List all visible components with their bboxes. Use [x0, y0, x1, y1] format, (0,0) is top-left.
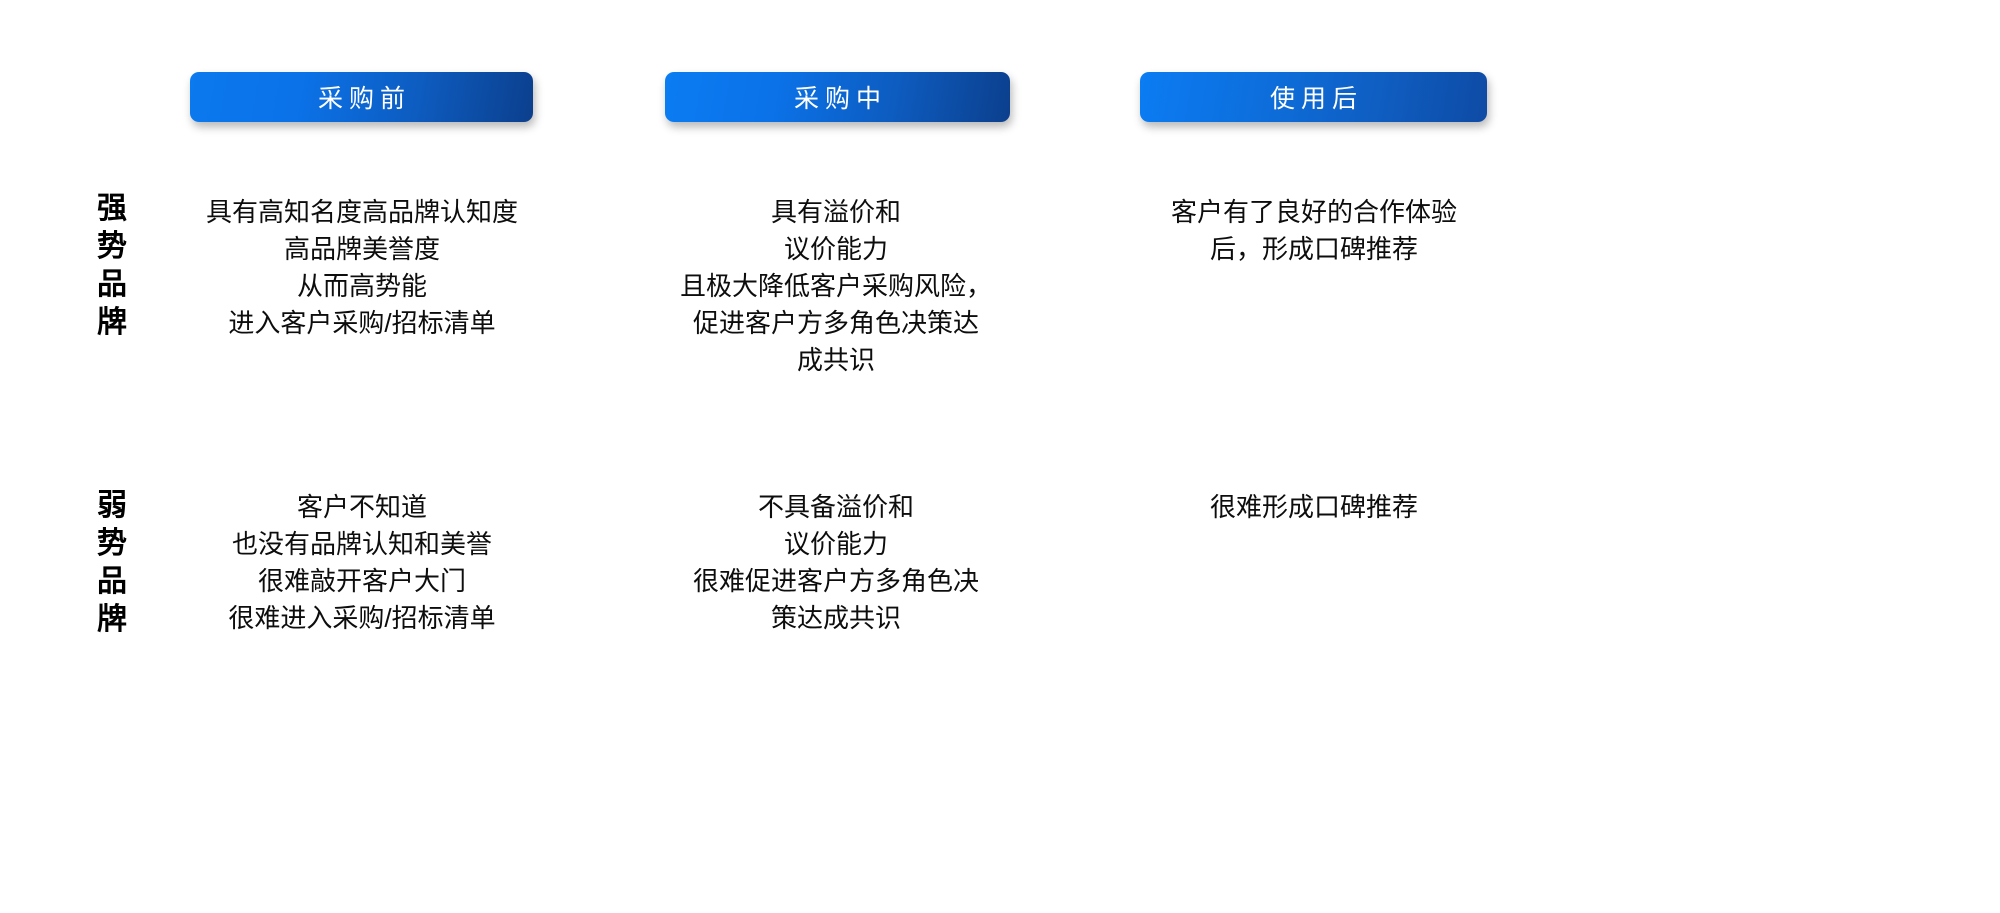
row-label-weak-brand-char-1: 弱 [90, 487, 134, 525]
row-label-strong-brand: 强 势 品 牌 [90, 190, 134, 342]
stage-banner-pre-purchase-label: 采购前 [312, 79, 411, 115]
stage-banner-during-purchase[interactable]: 采购中 [665, 72, 1010, 122]
slide-canvas: 采购前 采购中 使用后 强 势 品 牌 弱 势 品 牌 具有高知名度高品牌认知度… [0, 0, 2000, 913]
stage-banner-post-use[interactable]: 使用后 [1140, 72, 1487, 122]
row-label-strong-brand-char-2: 势 [90, 228, 134, 266]
row-label-weak-brand-char-4: 牌 [90, 601, 134, 639]
cell-strong-brand-post-use: 客户有了良好的合作体验 后，形成口碑推荐 [1124, 194, 1504, 268]
cell-weak-brand-during-purchase: 不具备溢价和 议价能力 很难促进客户方多角色决 策达成共识 [650, 489, 1022, 637]
row-label-weak-brand-char-3: 品 [90, 563, 134, 601]
cell-weak-brand-post-use: 很难形成口碑推荐 [1124, 489, 1504, 526]
stage-banner-during-purchase-label: 采购中 [788, 79, 887, 115]
cell-strong-brand-during-purchase: 具有溢价和 议价能力 且极大降低客户采购风险， 促进客户方多角色决策达 成共识 [650, 194, 1022, 379]
stage-banner-post-use-label: 使用后 [1264, 79, 1363, 115]
row-label-strong-brand-char-1: 强 [90, 190, 134, 228]
row-label-strong-brand-char-3: 品 [90, 266, 134, 304]
stage-banner-pre-purchase[interactable]: 采购前 [190, 72, 533, 122]
row-label-weak-brand-char-2: 势 [90, 525, 134, 563]
row-label-weak-brand: 弱 势 品 牌 [90, 487, 134, 639]
row-label-strong-brand-char-4: 牌 [90, 304, 134, 342]
cell-weak-brand-pre-purchase: 客户不知道 也没有品牌认知和美誉 很难敲开客户大门 很难进入采购/招标清单 [176, 489, 548, 637]
cell-strong-brand-pre-purchase: 具有高知名度高品牌认知度 高品牌美誉度 从而高势能 进入客户采购/招标清单 [176, 194, 548, 342]
